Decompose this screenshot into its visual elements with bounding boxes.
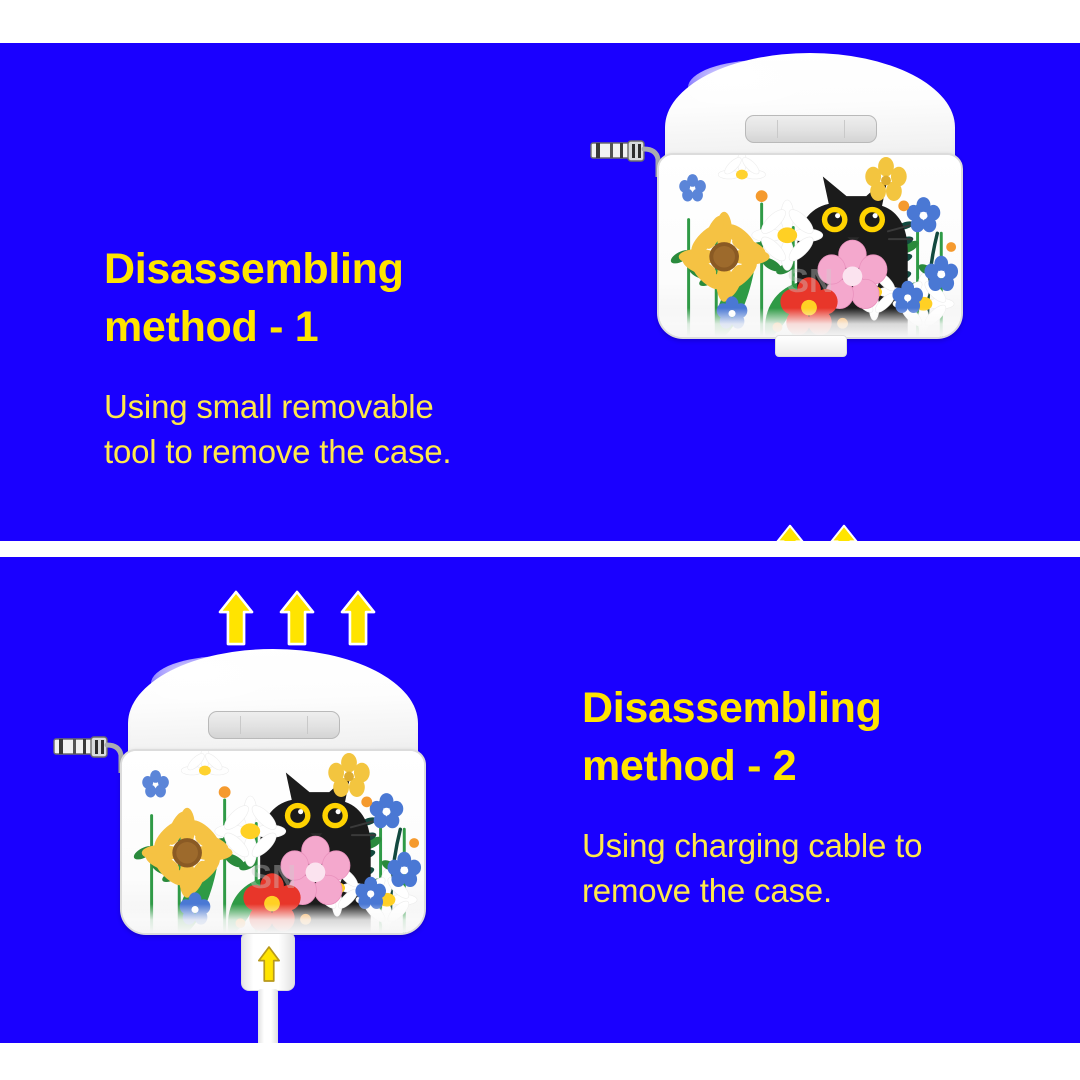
instruction-panel-1: Disassembling method - 1 Using small rem… [0,43,1080,541]
panel-1-subtext: Using small removable tool to remove the… [104,384,574,474]
panel-2-text-block: Disassembling method - 2 Using charging … [582,679,1062,913]
panel-1-bottom-arrows [776,524,858,541]
panel-1-heading: Disassembling method - 1 [104,240,574,356]
metal-carabiner-clip [590,135,664,177]
floral-cat-artwork: SN [659,155,961,337]
panel-2-top-arrows [218,590,376,646]
panel-2-heading: Disassembling method - 2 [582,679,1062,795]
svg-text:SN: SN [787,263,834,300]
case-shell-with-artwork: SN [120,749,426,935]
up-arrow-icon [830,524,858,541]
panel-1-text-block: Disassembling method - 1 Using small rem… [104,240,574,474]
up-arrow-icon [776,524,804,541]
up-arrow-icon [255,945,283,988]
panel-divider [0,541,1080,557]
case-shell-with-artwork: SN [657,153,963,339]
metal-carabiner-clip [53,731,127,773]
up-arrow-icon [279,590,315,646]
removal-tool [775,335,847,357]
airpods-case-product-1: SN [617,53,1037,353]
up-arrow-icon [218,590,254,646]
product-instruction-image: Disassembling method - 1 Using small rem… [0,0,1080,1080]
charging-cable-wire [258,989,278,1043]
instruction-panel-2: Disassembling method - 2 Using charging … [0,557,1080,1043]
panel-2-subtext: Using charging cable to remove the case. [582,823,1062,913]
up-arrow-icon [340,590,376,646]
charging-cable-connector [241,933,295,991]
svg-text:SN: SN [250,859,297,896]
case-hinge [208,711,340,739]
case-hinge [745,115,877,143]
floral-cat-artwork: SN [122,751,424,933]
airpods-case-product-2: SN [80,649,500,959]
